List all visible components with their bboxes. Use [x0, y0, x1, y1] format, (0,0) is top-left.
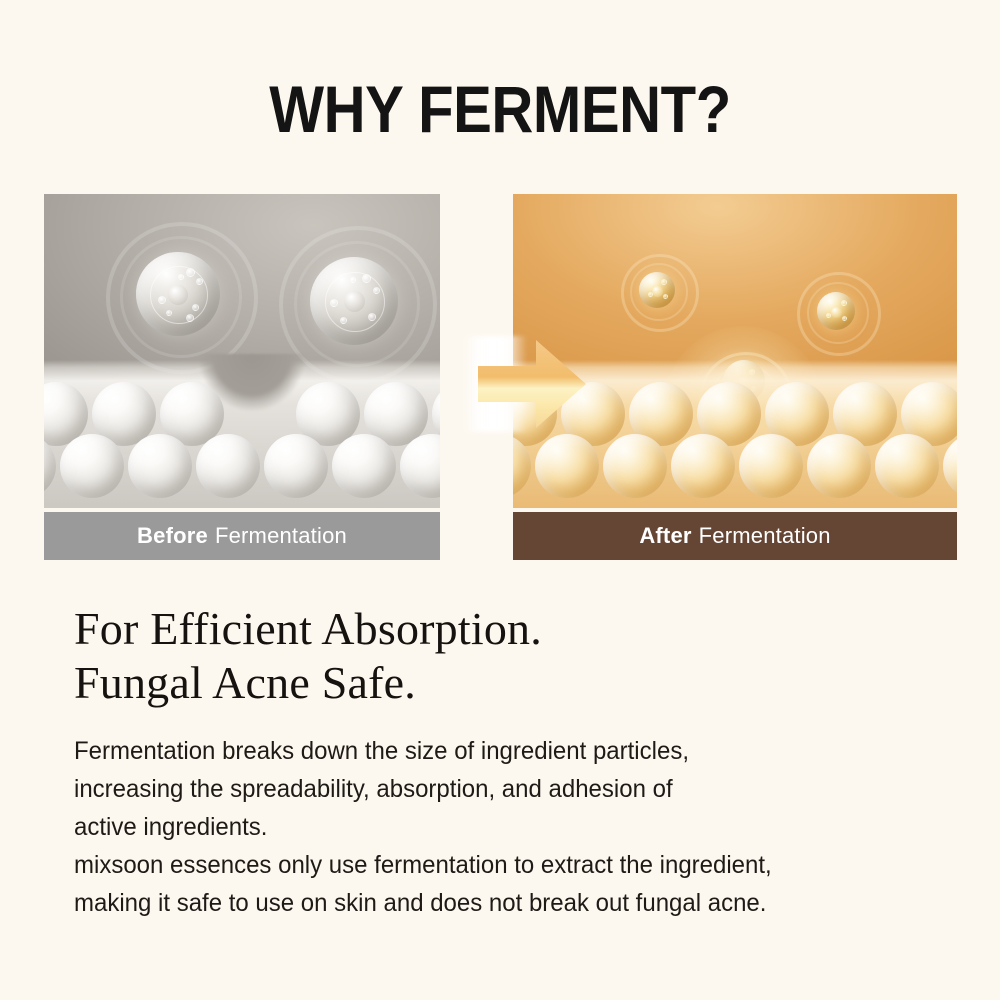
before-skin-surface	[44, 360, 440, 508]
infographic-page: WHY FERMENT?	[0, 0, 1000, 1000]
body-line-1: Fermentation breaks down the size of ing…	[74, 732, 919, 770]
body-line-4: mixsoon essences only use fermentation t…	[74, 846, 919, 884]
before-label-strong: Before	[137, 523, 208, 549]
before-droplet-body-2	[310, 257, 398, 345]
right-arrow-icon	[478, 338, 586, 430]
headline-line-1: For Efficient Absorption.	[74, 602, 934, 656]
after-droplet-body-2	[817, 292, 855, 330]
before-label-light: Fermentation	[215, 523, 347, 549]
headline-line-2: Fungal Acne Safe.	[74, 656, 934, 710]
before-after-comparison: Before Fermentation After Fermentation	[44, 194, 957, 560]
body-line-5: making it safe to use on skin and does n…	[74, 884, 919, 922]
headline: For Efficient Absorption. Fungal Acne Sa…	[74, 602, 934, 710]
before-cell-row-bottom	[44, 434, 440, 498]
after-label-strong: After	[639, 523, 691, 549]
before-image-panel	[44, 194, 440, 508]
before-label-bar: Before Fermentation	[44, 512, 440, 560]
page-title: WHY FERMENT?	[60, 74, 940, 144]
before-droplet-body-1	[136, 252, 220, 336]
body-line-3: active ingredients.	[74, 808, 919, 846]
after-cell-row-bottom	[513, 434, 957, 498]
after-droplet-body-1	[639, 272, 675, 308]
after-label-bar: After Fermentation	[513, 512, 957, 560]
after-label-light: Fermentation	[699, 523, 831, 549]
body-line-2: increasing the spreadability, absorption…	[74, 770, 919, 808]
body-copy: Fermentation breaks down the size of ing…	[74, 732, 919, 922]
